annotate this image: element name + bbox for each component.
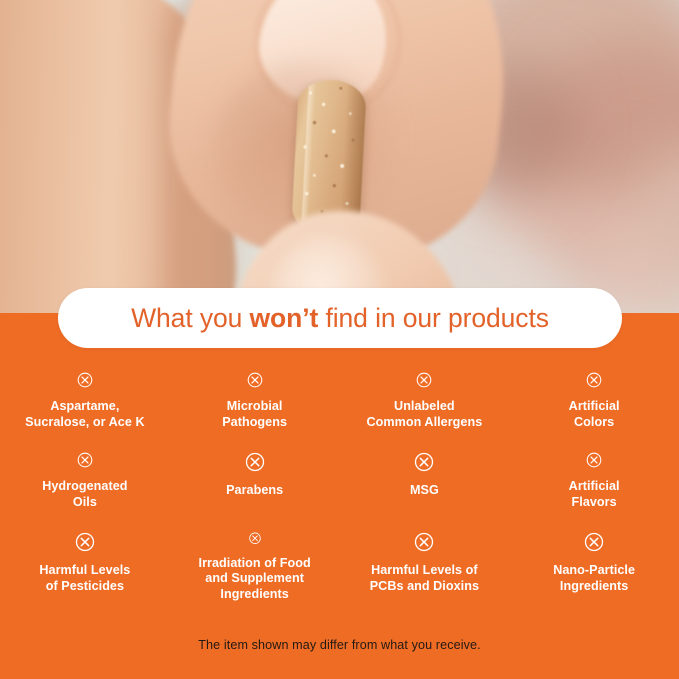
claims-panel: Aspartame, Sucralose, or Ace KMicrobial … <box>0 313 679 679</box>
claim-item-label: Parabens <box>226 483 283 499</box>
claim-item: Harmful Levels of PCBs and Dioxins <box>340 532 510 602</box>
claim-item-label: Nano-Particle Ingredients <box>553 563 635 594</box>
claim-item-label: Microbial Pathogens <box>222 399 287 430</box>
page-title: What you won’t find in our products <box>131 303 549 334</box>
circle-x-icon <box>245 372 265 388</box>
circle-x-icon <box>245 452 265 472</box>
disclaimer-text: The item shown may differ from what you … <box>0 638 679 652</box>
claim-item-label: Unlabeled Common Allergens <box>366 399 482 430</box>
claim-item: Artificial Flavors <box>509 452 679 510</box>
circle-x-icon <box>75 532 95 552</box>
claim-item-label: Harmful Levels of Pesticides <box>39 563 130 594</box>
circle-x-icon <box>75 452 95 468</box>
claim-item: Irradiation of Food and Supplement Ingre… <box>170 532 340 602</box>
circle-x-icon <box>584 372 604 388</box>
claims-grid: Aspartame, Sucralose, or Ace KMicrobial … <box>0 372 679 602</box>
claim-item: Aspartame, Sucralose, or Ace K <box>0 372 170 430</box>
claim-item: MSG <box>340 452 510 510</box>
circle-x-icon <box>414 532 434 552</box>
title-emphasis: won’t <box>250 303 319 333</box>
claim-item: Harmful Levels of Pesticides <box>0 532 170 602</box>
circle-x-icon <box>584 532 604 552</box>
claim-item-label: Irradiation of Food and Supplement Ingre… <box>199 556 311 603</box>
claim-item: Unlabeled Common Allergens <box>340 372 510 430</box>
headline-pill: What you won’t find in our products <box>58 288 622 348</box>
title-part-before: What you <box>131 303 249 333</box>
circle-x-icon <box>414 372 434 388</box>
claim-item: Hydrogenated Oils <box>0 452 170 510</box>
claim-item: Parabens <box>170 452 340 510</box>
claim-item-label: Hydrogenated Oils <box>42 479 127 510</box>
hero-photo <box>0 0 679 313</box>
product-claims-infographic: Aspartame, Sucralose, or Ace KMicrobial … <box>0 0 679 679</box>
circle-x-icon <box>584 452 604 468</box>
claim-item-label: Artificial Flavors <box>569 479 620 510</box>
claim-item-label: Artificial Colors <box>569 399 620 430</box>
circle-x-icon <box>245 532 265 545</box>
claim-item-label: Harmful Levels of PCBs and Dioxins <box>370 563 479 594</box>
claim-item: Nano-Particle Ingredients <box>509 532 679 602</box>
title-part-after: find in our products <box>318 303 549 333</box>
circle-x-icon <box>75 372 95 388</box>
claim-item: Microbial Pathogens <box>170 372 340 430</box>
claim-item-label: Aspartame, Sucralose, or Ace K <box>25 399 144 430</box>
circle-x-icon <box>414 452 434 472</box>
claim-item: Artificial Colors <box>509 372 679 430</box>
claim-item-label: MSG <box>410 483 439 499</box>
